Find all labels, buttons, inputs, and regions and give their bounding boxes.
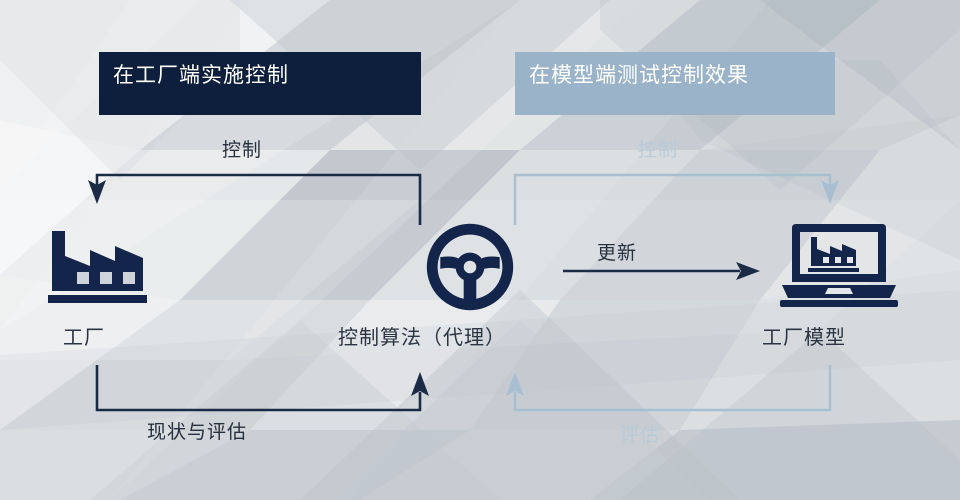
steering-wheel-icon — [425, 222, 515, 312]
flow-label-update: 更新 — [597, 244, 637, 263]
node-label-agent: 控制算法（代理） — [338, 328, 506, 348]
laptop-factory-model-icon — [778, 222, 900, 312]
banner-right-model-test: 在模型端测试控制效果 — [515, 52, 835, 115]
banner-left-text: 在工厂端实施控制 — [113, 65, 289, 86]
flow-label-feedback-right: 评估 — [620, 426, 660, 445]
banner-right-text: 在模型端测试控制效果 — [529, 65, 749, 86]
connector-update — [563, 262, 760, 280]
node-label-factory: 工厂 — [63, 328, 105, 348]
flow-label-control-right: 控制 — [638, 141, 678, 160]
connector-control-left — [88, 175, 420, 225]
factory-icon — [45, 228, 150, 308]
node-label-model: 工厂模型 — [762, 328, 846, 348]
slide-canvas: 在工厂端实施控制 在模型端测试控制效果 — [0, 0, 960, 500]
flow-label-feedback-left: 现状与评估 — [147, 423, 247, 442]
connector-feedback-right — [506, 365, 830, 410]
flow-label-control-left: 控制 — [222, 141, 262, 160]
connector-control-right — [515, 175, 839, 225]
connector-feedback-left — [97, 365, 429, 410]
banner-left-factory-control: 在工厂端实施控制 — [99, 52, 421, 115]
